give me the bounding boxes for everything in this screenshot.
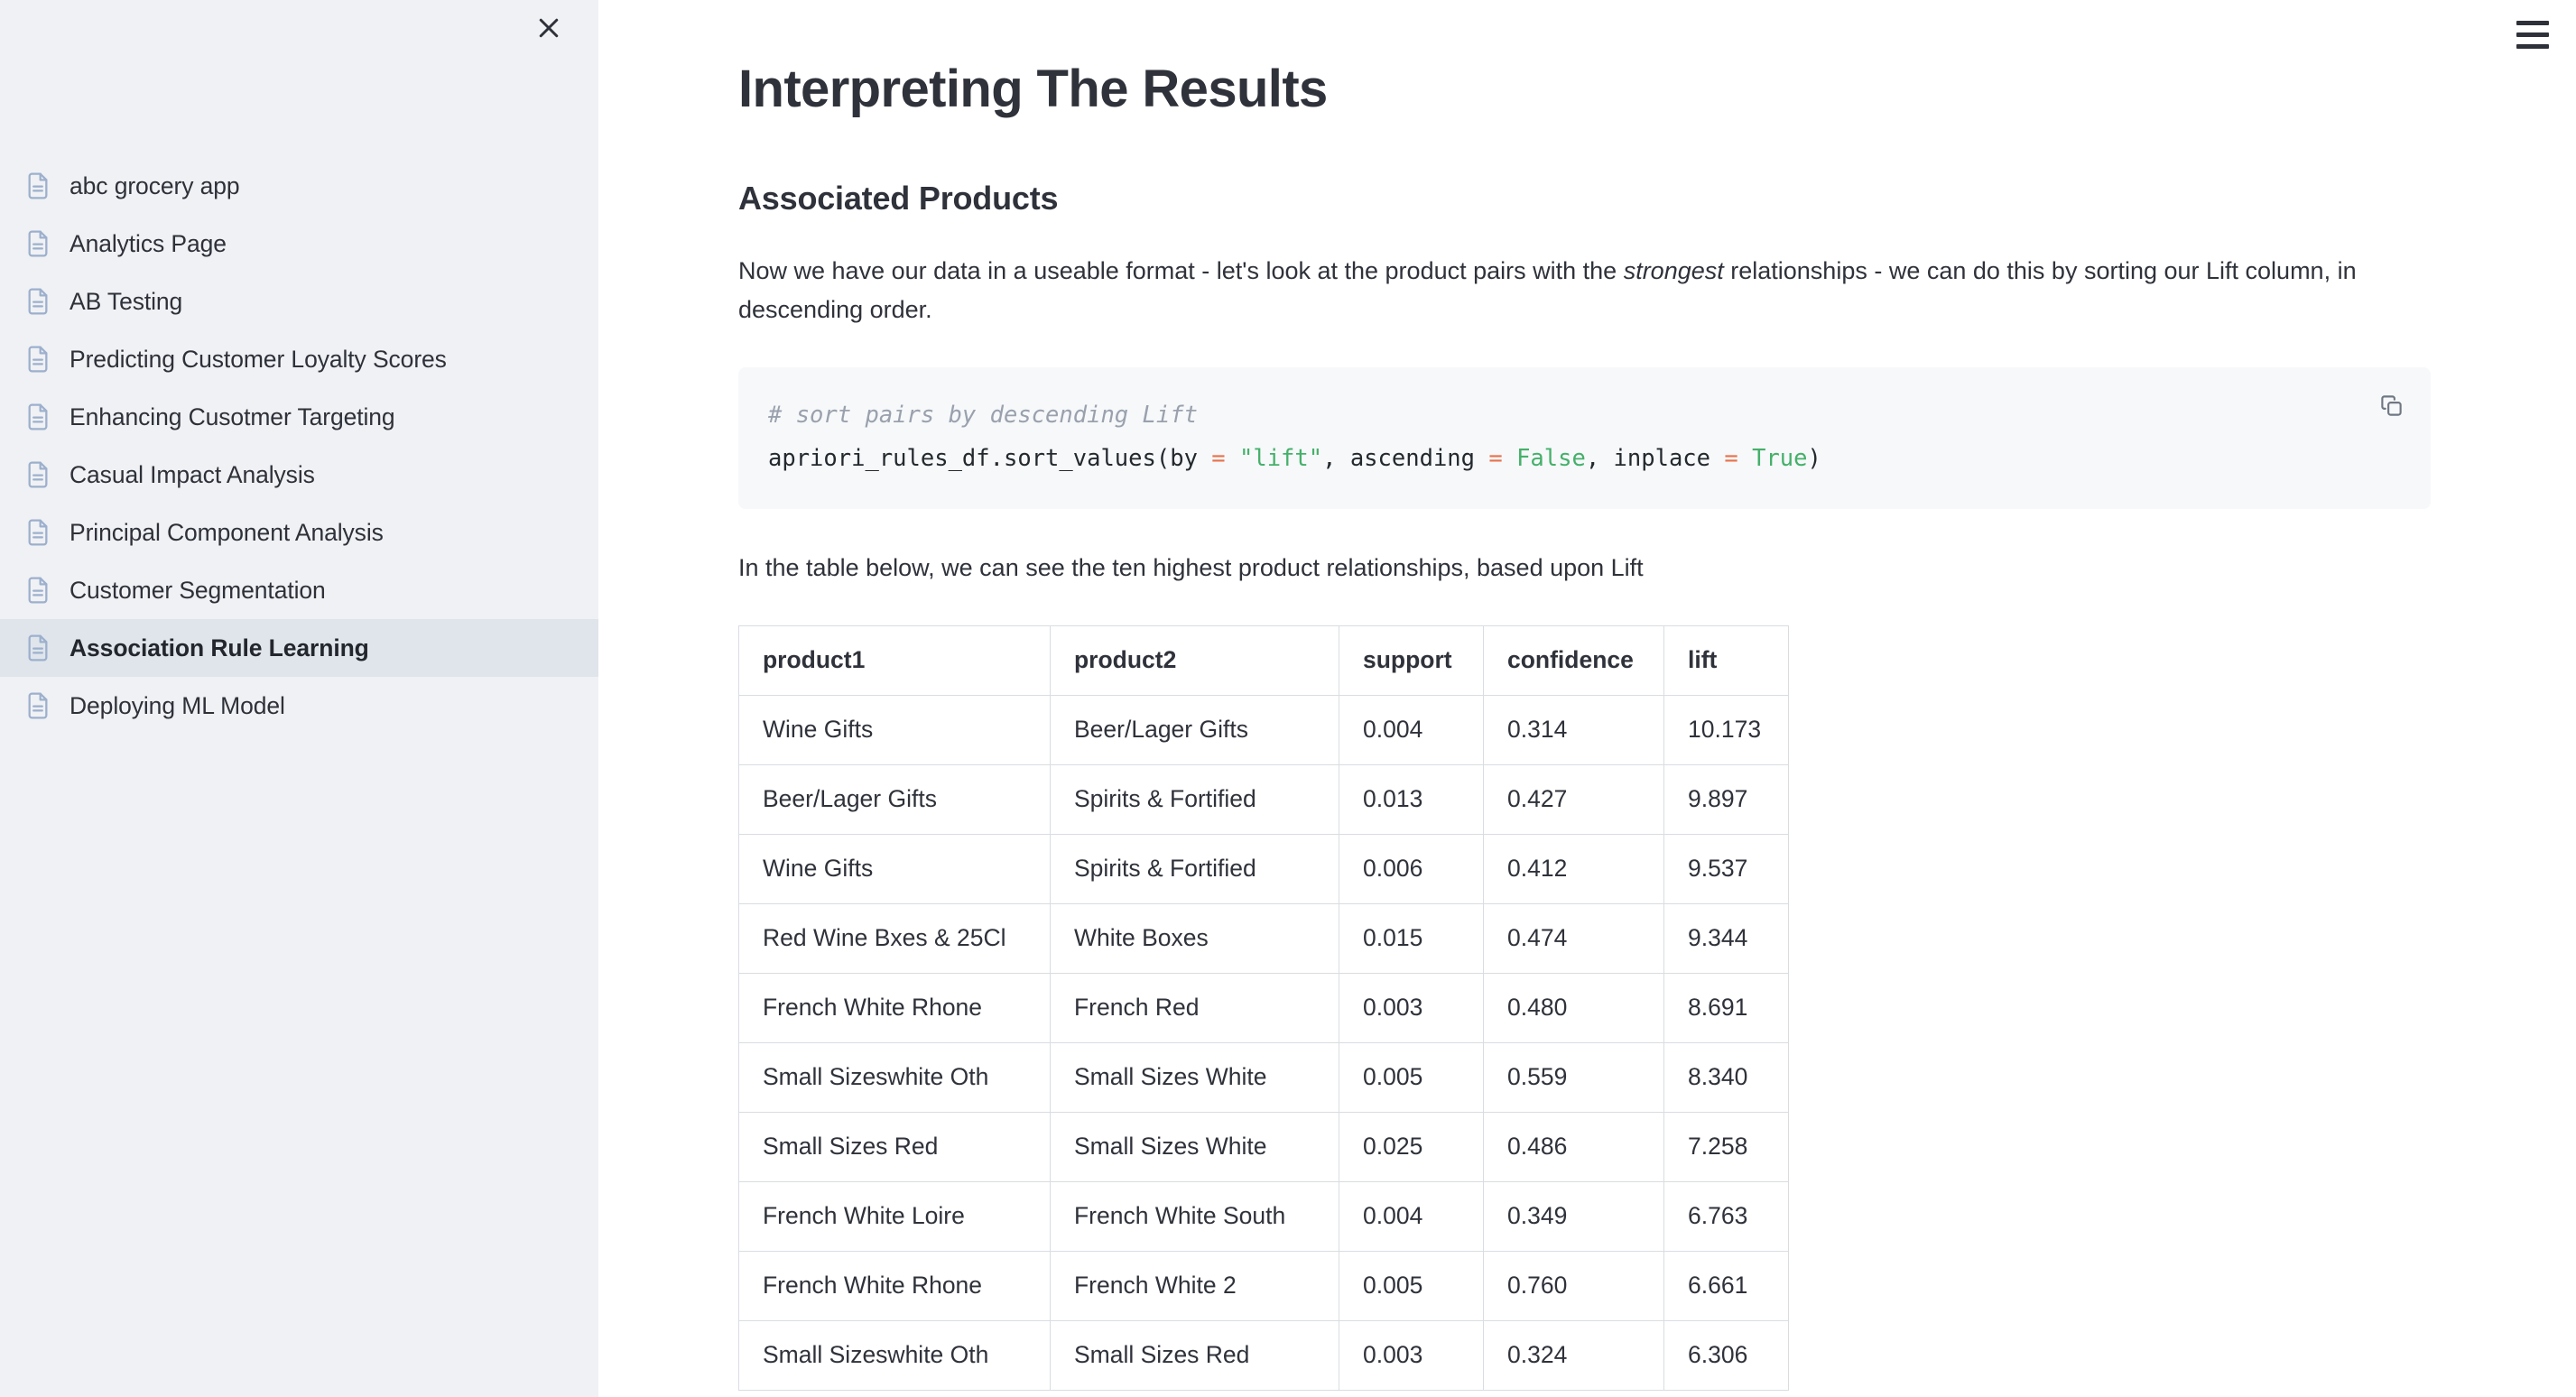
code-token-string: "lift" xyxy=(1239,445,1322,472)
sidebar-item-analytics-page[interactable]: Analytics Page xyxy=(0,215,598,273)
table-cell-support: 0.025 xyxy=(1339,1112,1484,1181)
table-cell-confidence: 0.559 xyxy=(1484,1042,1664,1112)
table-cell-product2: Small Sizes Red xyxy=(1051,1320,1339,1390)
table-cell-lift: 9.897 xyxy=(1664,764,1789,834)
table-cell-product1: Small Sizeswhite Oth xyxy=(739,1042,1051,1112)
code-line-statement: apriori_rules_df.sort_values(by = "lift"… xyxy=(768,438,2395,480)
table-cell-support: 0.005 xyxy=(1339,1251,1484,1320)
table-row: Red Wine Bxes & 25ClWhite Boxes0.0150.47… xyxy=(739,903,1789,973)
table-cell-confidence: 0.480 xyxy=(1484,973,1664,1042)
document-icon xyxy=(23,691,52,720)
table-cell-lift: 7.258 xyxy=(1664,1112,1789,1181)
table-cell-product1: French White Rhone xyxy=(739,973,1051,1042)
table-row: Wine GiftsBeer/Lager Gifts0.0040.31410.1… xyxy=(739,695,1789,764)
sidebar-item-label: Deploying ML Model xyxy=(69,692,285,720)
sidebar-item-deploying-ml-model[interactable]: Deploying ML Model xyxy=(0,677,598,735)
results-table-wrapper: product1product2supportconfidencelift Wi… xyxy=(738,625,2576,1391)
table-cell-support: 0.005 xyxy=(1339,1042,1484,1112)
code-token-call: apriori_rules_df.sort_values(by xyxy=(768,445,1198,472)
table-row: Wine GiftsSpirits & Fortified0.0060.4129… xyxy=(739,834,1789,903)
table-column-header-product1: product1 xyxy=(739,625,1051,695)
table-cell-support: 0.015 xyxy=(1339,903,1484,973)
sidebar-item-principal-component-analysis[interactable]: Principal Component Analysis xyxy=(0,504,598,561)
table-cell-support: 0.013 xyxy=(1339,764,1484,834)
table-cell-confidence: 0.324 xyxy=(1484,1320,1664,1390)
sidebar-item-label: Principal Component Analysis xyxy=(69,519,384,547)
sidebar-item-enhancing-cusotmer-targeting[interactable]: Enhancing Cusotmer Targeting xyxy=(0,388,598,446)
code-token-comment: # sort pairs by descending Lift xyxy=(768,402,1198,429)
table-row: French White LoireFrench White South0.00… xyxy=(739,1181,1789,1251)
table-cell-product2: French White 2 xyxy=(1051,1251,1339,1320)
sidebar-item-label: Predicting Customer Loyalty Scores xyxy=(69,346,447,374)
table-cell-confidence: 0.349 xyxy=(1484,1181,1664,1251)
hamburger-menu-icon-bar-1 xyxy=(2516,21,2549,25)
table-cell-product1: French White Loire xyxy=(739,1181,1051,1251)
table-cell-product1: French White Rhone xyxy=(739,1251,1051,1320)
document-icon xyxy=(23,287,52,316)
table-cell-lift: 10.173 xyxy=(1664,695,1789,764)
table-column-header-support: support xyxy=(1339,625,1484,695)
sidebar-item-label: AB Testing xyxy=(69,288,182,316)
table-cell-support: 0.004 xyxy=(1339,1181,1484,1251)
sidebar-item-label: Customer Segmentation xyxy=(69,577,326,605)
intro-paragraph: Now we have our data in a useable format… xyxy=(738,252,2435,329)
table-cell-confidence: 0.314 xyxy=(1484,695,1664,764)
table-cell-product1: Beer/Lager Gifts xyxy=(739,764,1051,834)
table-column-header-confidence: confidence xyxy=(1484,625,1664,695)
document-icon xyxy=(23,518,52,547)
table-cell-confidence: 0.412 xyxy=(1484,834,1664,903)
table-cell-product1: Wine Gifts xyxy=(739,695,1051,764)
document-icon xyxy=(23,171,52,200)
sidebar-item-casual-impact-analysis[interactable]: Casual Impact Analysis xyxy=(0,446,598,504)
hamburger-menu-icon-bar-2 xyxy=(2516,32,2549,37)
page-title: Interpreting The Results xyxy=(738,59,2576,119)
table-cell-lift: 8.691 xyxy=(1664,973,1789,1042)
sidebar-item-label: Enhancing Cusotmer Targeting xyxy=(69,403,395,431)
document-icon xyxy=(23,345,52,374)
hamburger-menu-button[interactable] xyxy=(2507,11,2558,58)
code-token-operator-3: = xyxy=(1724,445,1737,472)
table-cell-product2: Beer/Lager Gifts xyxy=(1051,695,1339,764)
sidebar-item-abc-grocery-app[interactable]: abc grocery app xyxy=(0,157,598,215)
sidebar-topbar xyxy=(0,0,598,56)
code-token-true: True xyxy=(1752,445,1807,472)
document-icon xyxy=(23,229,52,258)
association-rules-table: product1product2supportconfidencelift Wi… xyxy=(738,625,1789,1391)
hamburger-menu-icon-bar-3 xyxy=(2516,44,2549,49)
copy-code-button[interactable] xyxy=(2371,387,2411,427)
table-cell-product1: Wine Gifts xyxy=(739,834,1051,903)
table-cell-confidence: 0.486 xyxy=(1484,1112,1664,1181)
table-column-header-lift: lift xyxy=(1664,625,1789,695)
document-icon xyxy=(23,576,52,605)
table-cell-product2: White Boxes xyxy=(1051,903,1339,973)
table-cell-confidence: 0.760 xyxy=(1484,1251,1664,1320)
intro-paragraph-part-1: Now we have our data in a useable format… xyxy=(738,257,1624,284)
table-cell-product2: French Red xyxy=(1051,973,1339,1042)
table-cell-product2: Small Sizes White xyxy=(1051,1042,1339,1112)
table-cell-lift: 6.306 xyxy=(1664,1320,1789,1390)
article-body: Interpreting The Results Associated Prod… xyxy=(598,59,2576,1391)
table-cell-lift: 9.344 xyxy=(1664,903,1789,973)
table-cell-confidence: 0.427 xyxy=(1484,764,1664,834)
table-cell-support: 0.003 xyxy=(1339,973,1484,1042)
table-cell-product2: Small Sizes White xyxy=(1051,1112,1339,1181)
table-cell-support: 0.006 xyxy=(1339,834,1484,903)
table-cell-lift: 8.340 xyxy=(1664,1042,1789,1112)
table-cell-product1: Red Wine Bxes & 25Cl xyxy=(739,903,1051,973)
table-cell-product2: Spirits & Fortified xyxy=(1051,764,1339,834)
code-token-operator-1: = xyxy=(1211,445,1225,472)
table-cell-product2: Spirits & Fortified xyxy=(1051,834,1339,903)
table-header-row: product1product2supportconfidencelift xyxy=(739,625,1789,695)
table-cell-support: 0.004 xyxy=(1339,695,1484,764)
sidebar-item-label: abc grocery app xyxy=(69,172,240,200)
table-cell-product1: Small Sizes Red xyxy=(739,1112,1051,1181)
code-block: # sort pairs by descending Lift apriori_… xyxy=(738,367,2431,508)
document-icon xyxy=(23,460,52,489)
sidebar-item-customer-segmentation[interactable]: Customer Segmentation xyxy=(0,561,598,619)
table-cell-confidence: 0.474 xyxy=(1484,903,1664,973)
code-token-operator-2: = xyxy=(1488,445,1502,472)
sidebar-item-label: Casual Impact Analysis xyxy=(69,461,315,489)
code-line-comment: # sort pairs by descending Lift xyxy=(768,394,2395,437)
table-cell-lift: 9.537 xyxy=(1664,834,1789,903)
table-row: French White RhoneFrench White 20.0050.7… xyxy=(739,1251,1789,1320)
close-sidebar-button[interactable] xyxy=(524,4,573,52)
table-row: Small Sizeswhite OthSmall Sizes White0.0… xyxy=(739,1042,1789,1112)
code-token-arg-2: , ascending xyxy=(1322,445,1488,472)
code-token-false: False xyxy=(1516,445,1586,472)
section-title: Associated Products xyxy=(738,180,2576,217)
sidebar-nav-list: abc grocery app Analytics Page AB Testin… xyxy=(0,157,598,735)
table-row: French White RhoneFrench Red0.0030.4808.… xyxy=(739,973,1789,1042)
table-cell-lift: 6.661 xyxy=(1664,1251,1789,1320)
table-cell-lift: 6.763 xyxy=(1664,1181,1789,1251)
table-row: Small Sizes RedSmall Sizes White0.0250.4… xyxy=(739,1112,1789,1181)
document-icon xyxy=(23,402,52,431)
table-body: Wine GiftsBeer/Lager Gifts0.0040.31410.1… xyxy=(739,695,1789,1390)
copy-icon xyxy=(2379,393,2404,421)
table-cell-product1: Small Sizeswhite Oth xyxy=(739,1320,1051,1390)
app-root: abc grocery app Analytics Page AB Testin… xyxy=(0,0,2576,1397)
table-header: product1product2supportconfidencelift xyxy=(739,625,1789,695)
table-row: Small Sizeswhite OthSmall Sizes Red0.003… xyxy=(739,1320,1789,1390)
table-cell-product2: French White South xyxy=(1051,1181,1339,1251)
table-caption-paragraph: In the table below, we can see the ten h… xyxy=(738,549,2576,587)
intro-paragraph-emphasis: strongest xyxy=(1624,257,1724,284)
sidebar-item-ab-testing[interactable]: AB Testing xyxy=(0,273,598,330)
close-icon xyxy=(535,14,562,42)
table-column-header-product2: product2 xyxy=(1051,625,1339,695)
table-cell-support: 0.003 xyxy=(1339,1320,1484,1390)
main-content: Interpreting The Results Associated Prod… xyxy=(598,0,2576,1397)
sidebar: abc grocery app Analytics Page AB Testin… xyxy=(0,0,598,1397)
sidebar-item-label: Analytics Page xyxy=(69,230,227,258)
code-token-arg-3: , inplace xyxy=(1586,445,1725,472)
sidebar-item-association-rule-learning[interactable]: Association Rule Learning xyxy=(0,619,598,677)
table-row: Beer/Lager GiftsSpirits & Fortified0.013… xyxy=(739,764,1789,834)
code-token-close-paren: ) xyxy=(1808,445,1821,472)
sidebar-item-label: Association Rule Learning xyxy=(69,634,369,662)
document-icon xyxy=(23,634,52,662)
sidebar-item-predicting-customer-loyalty-scores[interactable]: Predicting Customer Loyalty Scores xyxy=(0,330,598,388)
